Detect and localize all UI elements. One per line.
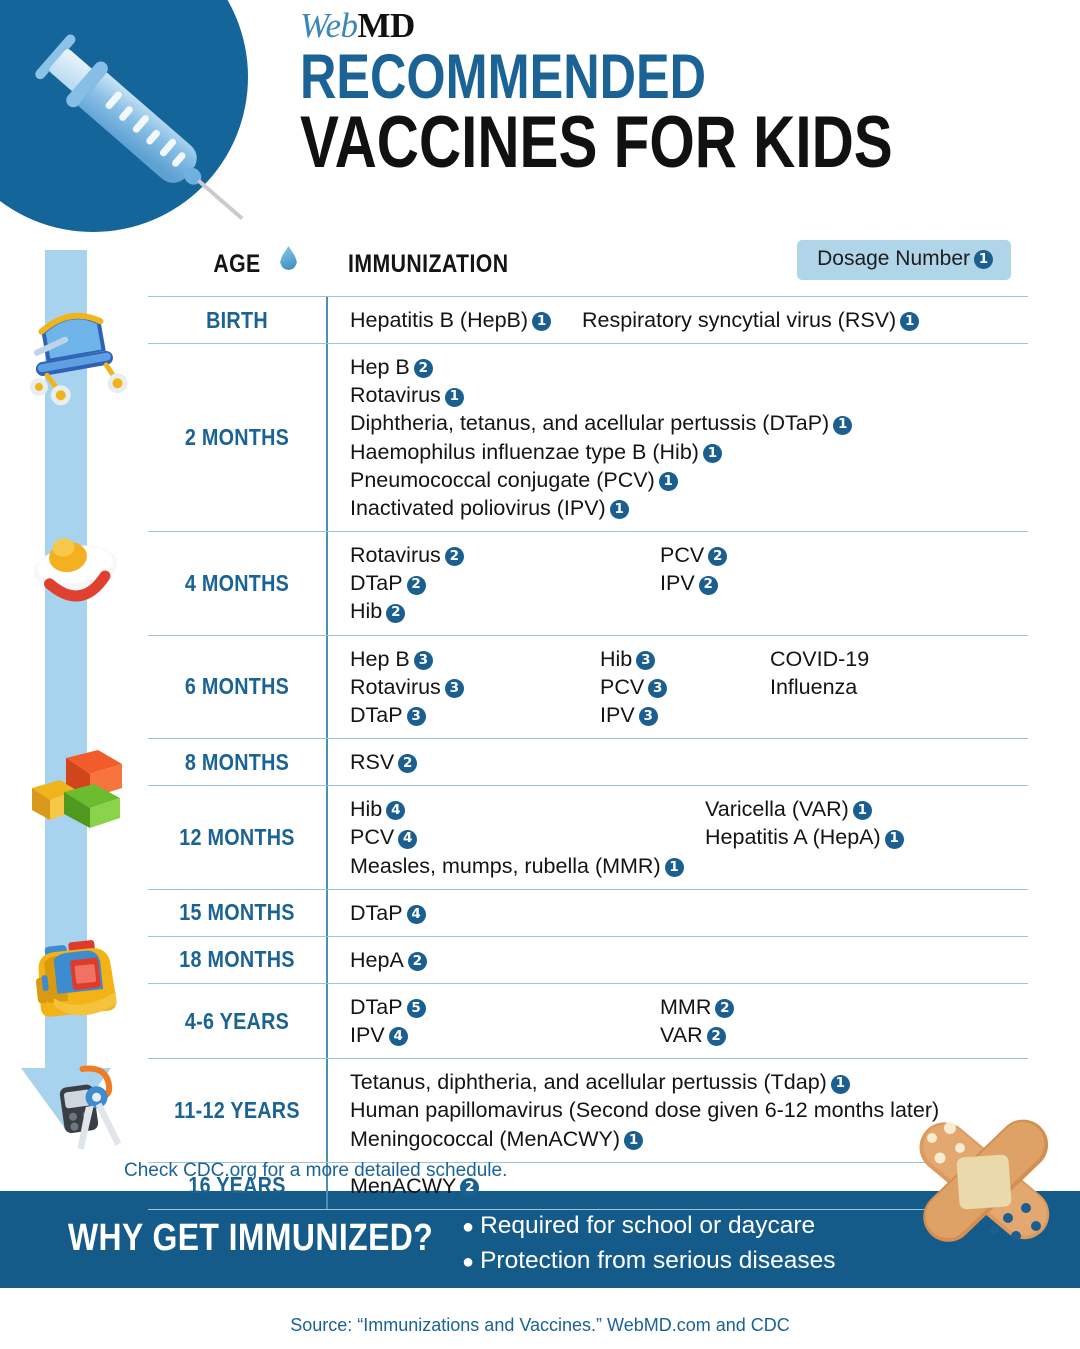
table-row: 2 MONTHSHep B2Rotavirus1Diphtheria, teta…: [148, 343, 1028, 531]
dosage-badge: 1: [885, 830, 904, 849]
table-row: 15 MONTHSDTaP4: [148, 889, 1028, 936]
car-keys-icon: [42, 1062, 142, 1154]
age-label: 2 MONTHS: [160, 344, 313, 531]
vaccine-name: IPV: [660, 571, 695, 595]
vaccine-entry: Hep B3: [350, 645, 464, 673]
dosage-badge: 2: [708, 547, 727, 566]
immunization-cell: RSV2: [326, 739, 1028, 785]
dosage-badge: 1: [900, 312, 919, 331]
vaccine-name: Rotavirus: [350, 383, 441, 407]
banner-bullet: ●Protection from serious diseases: [462, 1244, 836, 1279]
vaccine-entry: PCV4: [350, 823, 417, 851]
vaccine-entry: Diphtheria, tetanus, and acellular pertu…: [350, 409, 852, 437]
dosage-legend-badge: 1: [974, 250, 993, 269]
dosage-badge: 1: [665, 858, 684, 877]
vaccine-entry: VAR2: [660, 1021, 734, 1049]
vaccine-entry: DTaP2: [350, 569, 464, 597]
vaccine-column: Varicella (VAR)1Hepatitis A (HepA)1: [705, 795, 904, 851]
age-label: BIRTH: [160, 297, 313, 343]
immunization-cell: Hep B3Rotavirus3DTaP3Hib3PCV3IPV3COVID-1…: [326, 636, 1028, 738]
dosage-badge: 3: [636, 651, 655, 670]
column-header-immunization: IMMUNIZATION: [348, 250, 509, 279]
dosage-badge: 4: [386, 801, 405, 820]
banner-bullet: ●Required for school or daycare: [462, 1209, 836, 1244]
vaccine-name: RSV: [350, 750, 394, 774]
table-row: 12 MONTHSHib4PCV4Varicella (VAR)1Hepatit…: [148, 785, 1028, 888]
vaccine-entry: Rotavirus1: [350, 381, 852, 409]
dosage-badge: 3: [407, 707, 426, 726]
vaccine-name: Haemophilus influenzae type B (Hib): [350, 440, 699, 464]
vaccine-entry: Hepatitis A (HepA)1: [705, 823, 904, 851]
vaccine-entry: Inactivated poliovirus (IPV)1: [350, 494, 852, 522]
dosage-badge: 1: [659, 472, 678, 491]
vaccine-entry: DTaP3: [350, 701, 464, 729]
dosage-badge: 1: [624, 1131, 643, 1150]
vaccine-entry: Hib4: [350, 795, 417, 823]
vaccine-entry: DTaP5: [350, 993, 426, 1021]
dosage-badge: 2: [707, 1027, 726, 1046]
dosage-badge: 3: [639, 707, 658, 726]
dosage-legend-label: Dosage Number: [817, 247, 970, 270]
dosage-badge: 1: [831, 1075, 850, 1094]
vaccine-name: Varicella (VAR): [705, 797, 849, 821]
backpack-icon: [20, 930, 130, 1030]
vaccine-column: RSV2: [350, 748, 417, 776]
vaccine-name: DTaP: [350, 571, 403, 595]
table-row: 4-6 YEARSDTaP5IPV4MMR2VAR2: [148, 983, 1028, 1058]
vaccine-name: DTaP: [350, 703, 403, 727]
dosage-badge: 1: [445, 388, 464, 407]
vaccine-name: PCV: [660, 543, 704, 567]
table-row: 18 MONTHSHepA2: [148, 936, 1028, 983]
vaccine-entry: Respiratory syncytial virus (RSV)1: [582, 306, 919, 334]
vaccine-entry: IPV2: [660, 569, 727, 597]
vaccine-entry: DTaP4: [350, 899, 426, 927]
dosage-badge: 4: [389, 1027, 408, 1046]
logo-md-text: MD: [357, 6, 414, 45]
vaccine-name: Hep B: [350, 647, 410, 671]
vaccine-entry: RSV2: [350, 748, 417, 776]
age-label: 6 MONTHS: [160, 636, 313, 738]
table-row: 8 MONTHSRSV2: [148, 738, 1028, 785]
dosage-badge: 5: [407, 999, 426, 1018]
vaccine-entry: Tetanus, diphtheria, and acellular pertu…: [350, 1068, 939, 1096]
vaccine-entry: MMR2: [660, 993, 734, 1021]
vaccine-name: DTaP: [350, 901, 403, 925]
vaccine-name: Pneumococcal conjugate (PCV): [350, 468, 655, 492]
webmd-logo: WebMD: [300, 8, 1000, 43]
vaccine-name: Tetanus, diphtheria, and acellular pertu…: [350, 1070, 827, 1094]
vaccine-name: Hib: [600, 647, 632, 671]
vaccine-entry: Hepatitis B (HepB)1: [350, 306, 551, 334]
vaccine-name: Measles, mumps, rubella (MMR): [350, 854, 661, 878]
vaccine-name: COVID-19: [770, 647, 869, 671]
immunization-cell: Hib4PCV4Varicella (VAR)1Hepatitis A (Hep…: [326, 786, 1028, 888]
dosage-badge: 1: [703, 444, 722, 463]
vaccine-column: MMR2VAR2: [660, 993, 734, 1049]
vaccine-entry: Measles, mumps, rubella (MMR)1: [350, 852, 1028, 880]
age-label: 4 MONTHS: [160, 532, 313, 634]
vaccine-entry: Varicella (VAR)1: [705, 795, 904, 823]
vaccine-entry: Rotavirus3: [350, 673, 464, 701]
vaccine-entry: Influenza: [770, 673, 869, 701]
stroller-icon: [20, 300, 132, 410]
vaccine-name: VAR: [660, 1023, 703, 1047]
immunization-cell: HepA2: [326, 937, 1028, 983]
vaccine-name: MMR: [660, 995, 711, 1019]
dosage-badge: 1: [853, 801, 872, 820]
page-header: WebMD RECOMMENDED VACCINES FOR KIDS: [300, 8, 1000, 176]
vaccine-name: DTaP: [350, 995, 403, 1019]
age-label: 15 MONTHS: [160, 890, 313, 936]
dosage-badge: 2: [715, 999, 734, 1018]
vaccine-name: HepA: [350, 948, 404, 972]
vaccine-entry: PCV2: [660, 541, 727, 569]
dosage-badge: 1: [610, 500, 629, 519]
vaccine-column: DTaP4: [350, 899, 426, 927]
vaccine-name: Meningococcal (MenACWY): [350, 1127, 620, 1151]
bandage-icon: [890, 1098, 1080, 1263]
vaccine-column: Rotavirus2DTaP2Hib2: [350, 541, 464, 625]
vaccine-column: Hib4PCV4: [350, 795, 417, 851]
page-title-line2: VACCINES FOR KIDS: [300, 109, 860, 176]
vaccine-entry: IPV4: [350, 1021, 426, 1049]
dosage-badge: 2: [408, 952, 427, 971]
vaccine-name: Hib: [350, 797, 382, 821]
banner-title: WHY GET IMMUNIZED?: [68, 1217, 433, 1260]
vaccine-name: Respiratory syncytial virus (RSV): [582, 308, 896, 332]
dosage-badge: 2: [414, 359, 433, 378]
banner-benefits-list: ●Required for school or daycare●Protecti…: [462, 1209, 836, 1279]
vaccine-name: Hepatitis A (HepA): [705, 825, 881, 849]
vaccine-column: COVID-19Influenza: [770, 645, 869, 701]
vaccine-entry: COVID-19: [770, 645, 869, 673]
age-label: 12 MONTHS: [160, 786, 313, 888]
age-label: 18 MONTHS: [160, 937, 313, 983]
immunization-cell: Hep B2Rotavirus1Diphtheria, tetanus, and…: [326, 344, 1028, 531]
toy-blocks-icon: [22, 740, 126, 830]
cdc-footnote: Check CDC.org for a more detailed schedu…: [124, 1160, 507, 1182]
dosage-badge: 4: [398, 830, 417, 849]
immunization-cell: Rotavirus2DTaP2Hib2PCV2IPV2: [326, 532, 1028, 634]
dosage-badge: 2: [386, 604, 405, 623]
immunization-cell: DTaP5IPV4MMR2VAR2: [326, 984, 1028, 1058]
vaccine-column: HepA2: [350, 946, 427, 974]
pacifier-icon: [26, 528, 126, 614]
vaccine-name: Hepatitis B (HepB): [350, 308, 528, 332]
dosage-badge: 2: [398, 754, 417, 773]
vaccine-column: Hep B3Rotavirus3DTaP3: [350, 645, 464, 729]
dosage-badge: 3: [414, 651, 433, 670]
page-title-line1: RECOMMENDED: [300, 49, 860, 107]
vaccine-name: Inactivated poliovirus (IPV): [350, 496, 606, 520]
logo-web-text: Web: [300, 6, 357, 45]
dosage-badge: 1: [833, 416, 852, 435]
dosage-badge: 2: [699, 576, 718, 595]
vaccine-name: Rotavirus: [350, 675, 441, 699]
vaccine-entry: Human papillomavirus (Second dose given …: [350, 1096, 939, 1124]
table-row: 4 MONTHSRotavirus2DTaP2Hib2PCV2IPV2: [148, 531, 1028, 634]
vaccine-entry: Rotavirus2: [350, 541, 464, 569]
vaccine-schedule-table: AGE IMMUNIZATION Dosage Number1 BIRTHHep…: [148, 238, 1028, 1210]
vaccine-column: Hep B2Rotavirus1Diphtheria, tetanus, and…: [350, 353, 852, 522]
vaccine-entry: Hep B2: [350, 353, 852, 381]
bullet-dot-icon: ●: [462, 1216, 474, 1238]
syringe-icon: [8, 8, 258, 258]
table-row: 6 MONTHSHep B3Rotavirus3DTaP3Hib3PCV3IPV…: [148, 635, 1028, 738]
vaccine-name: Rotavirus: [350, 543, 441, 567]
dosage-badge: 2: [445, 547, 464, 566]
dosage-badge: 3: [445, 679, 464, 698]
vaccine-column: Respiratory syncytial virus (RSV)1: [582, 306, 919, 334]
age-label: 8 MONTHS: [160, 739, 313, 785]
dosage-badge: 4: [407, 905, 426, 924]
age-label: 11-12 YEARS: [160, 1059, 313, 1161]
vaccine-column: Hib3PCV3IPV3: [600, 645, 667, 729]
table-header-row: AGE IMMUNIZATION Dosage Number1: [148, 238, 1028, 296]
vaccine-entry: IPV3: [600, 701, 667, 729]
vaccine-entry: Haemophilus influenzae type B (Hib)1: [350, 438, 852, 466]
vaccine-name: Influenza: [770, 675, 857, 699]
vaccine-column: Hepatitis B (HepB)1: [350, 306, 551, 334]
table-row: BIRTHHepatitis B (HepB)1Respiratory sync…: [148, 296, 1028, 343]
bullet-dot-icon: ●: [462, 1251, 474, 1273]
vaccine-entry: HepA2: [350, 946, 427, 974]
vaccine-entry: Pneumococcal conjugate (PCV)1: [350, 466, 852, 494]
vaccine-name: PCV: [350, 825, 394, 849]
banner-bullet-text: Required for school or daycare: [480, 1212, 815, 1239]
vaccine-name: Diphtheria, tetanus, and acellular pertu…: [350, 411, 829, 435]
immunization-cell: Hepatitis B (HepB)1Respiratory syncytial…: [326, 297, 1028, 343]
vaccine-entry: Meningococcal (MenACWY)1: [350, 1125, 939, 1153]
vaccine-column: PCV2IPV2: [660, 541, 727, 597]
dosage-badge: 3: [648, 679, 667, 698]
vaccine-name: Human papillomavirus (Second dose given …: [350, 1098, 939, 1122]
vaccine-name: Hep B: [350, 355, 410, 379]
vaccine-name: IPV: [350, 1023, 385, 1047]
vaccine-entry: Hib2: [350, 597, 464, 625]
source-citation: Source: “Immunizations and Vaccines.” We…: [0, 1315, 1080, 1336]
immunization-cell: DTaP4: [326, 890, 1028, 936]
vaccine-name: IPV: [600, 703, 635, 727]
banner-bullet-text: Protection from serious diseases: [480, 1247, 835, 1274]
dosage-badge: 2: [407, 576, 426, 595]
vaccine-name: PCV: [600, 675, 644, 699]
vaccine-column: DTaP5IPV4: [350, 993, 426, 1049]
vaccine-entry: Hib3: [600, 645, 667, 673]
vaccine-column: Tetanus, diphtheria, and acellular pertu…: [350, 1068, 939, 1152]
vaccine-entry: PCV3: [600, 673, 667, 701]
vaccine-name: Hib: [350, 599, 382, 623]
age-label: 4-6 YEARS: [160, 984, 313, 1058]
dosage-number-legend: Dosage Number1: [797, 240, 1011, 280]
dosage-badge: 1: [532, 312, 551, 331]
